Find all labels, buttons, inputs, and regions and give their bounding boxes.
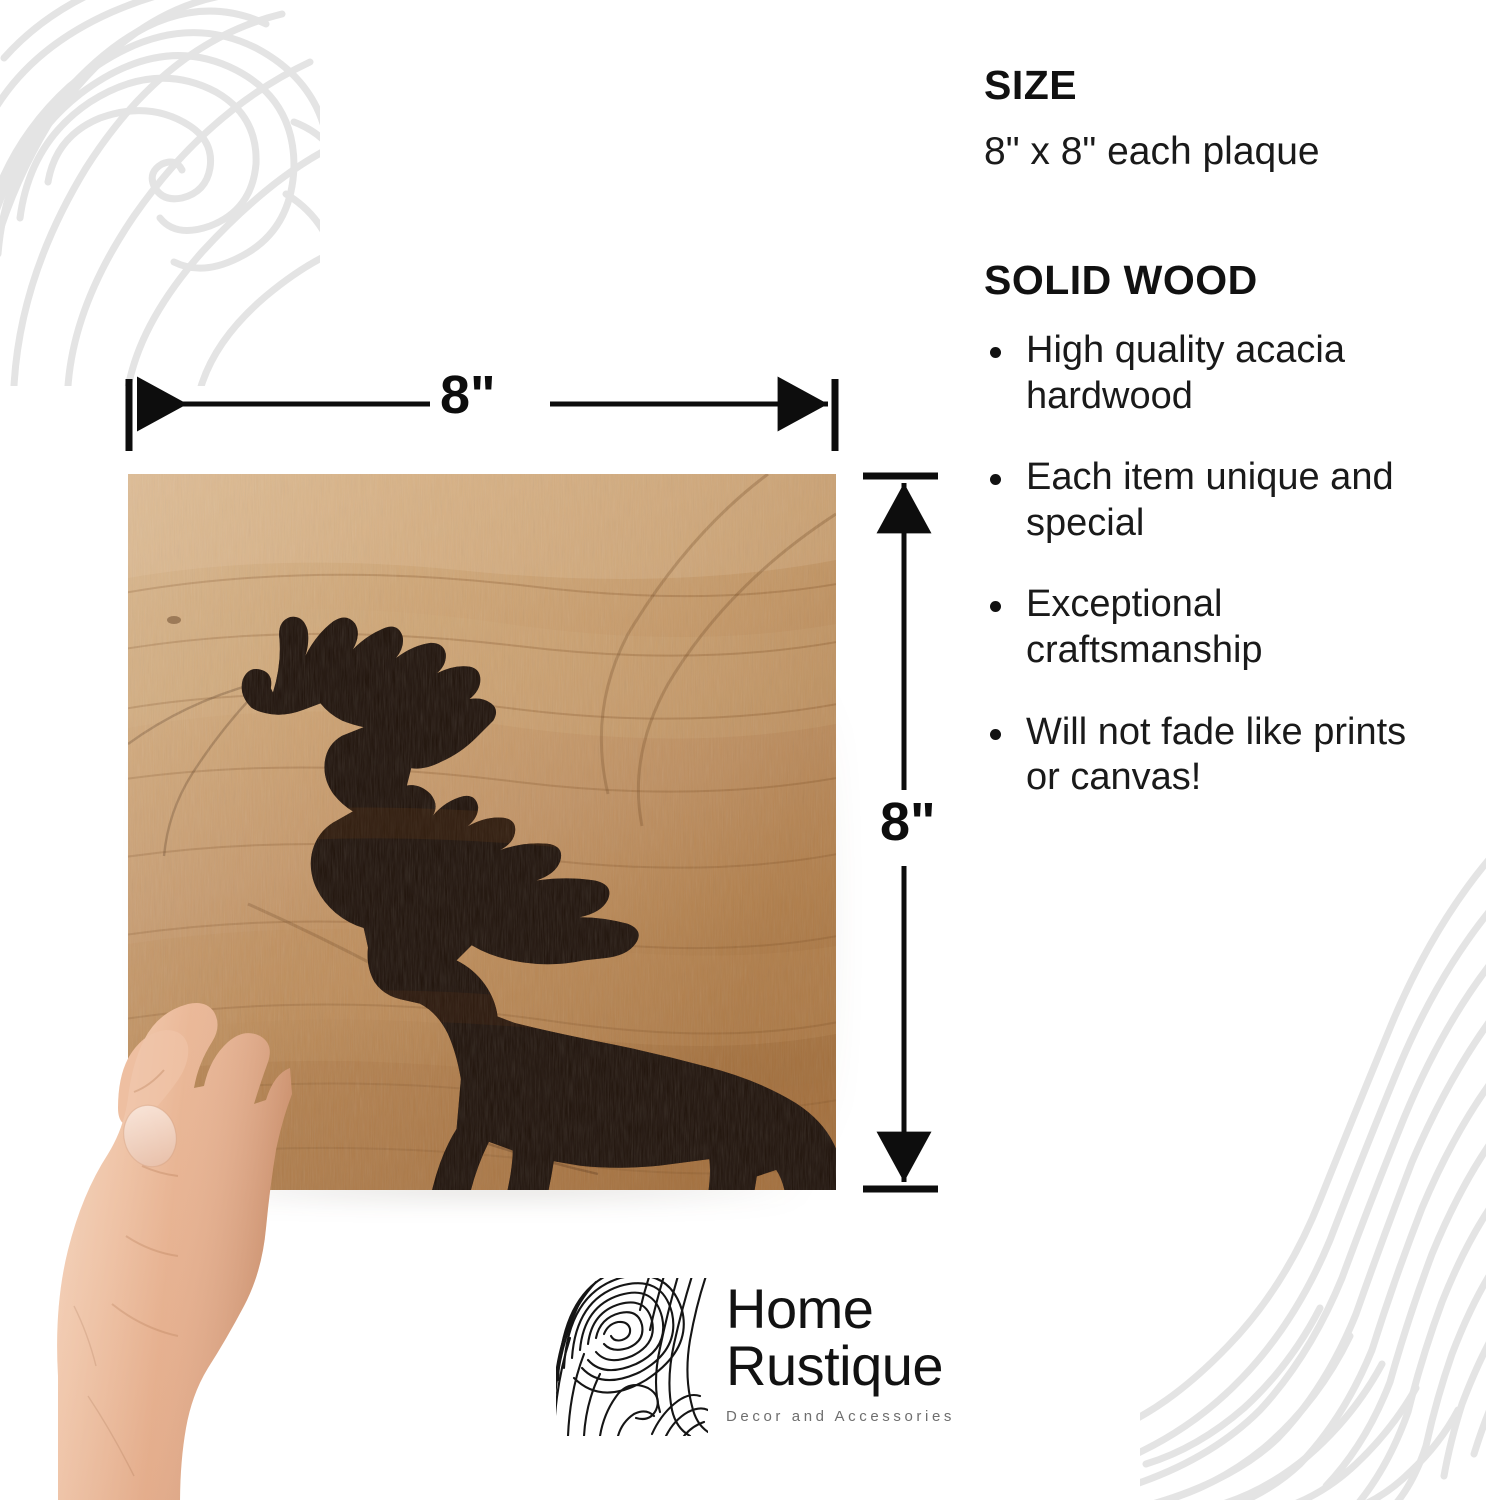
list-item: High quality acacia hardwood xyxy=(984,328,1444,419)
product-infographic: 8" 8" xyxy=(0,0,1486,1500)
list-item: Will not fade like prints or canvas! xyxy=(984,710,1444,801)
solid-wood-heading: SOLID WOOD xyxy=(984,259,1444,302)
wood-grain-decoration-top-left xyxy=(0,0,320,386)
wood-grain-logo-icon xyxy=(556,1278,708,1436)
feature-list: High quality acacia hardwood Each item u… xyxy=(984,328,1444,801)
hand-holding-plaque xyxy=(0,836,292,1500)
wood-grain-decoration-bottom-right xyxy=(1140,816,1486,1500)
size-value: 8" x 8" each plaque xyxy=(984,129,1444,175)
dimension-label-width: 8" xyxy=(440,368,496,422)
brand-name-line1: Home xyxy=(726,1280,955,1337)
list-item: Exceptional craftsmanship xyxy=(984,582,1444,673)
brand-logo: Home Rustique Decor and Accessories xyxy=(556,1278,956,1448)
list-item: Each item unique and special xyxy=(984,455,1444,546)
brand-wordmark: Home Rustique Decor and Accessories xyxy=(726,1278,955,1425)
brand-tagline: Decor and Accessories xyxy=(726,1408,955,1425)
brand-name-line2: Rustique xyxy=(726,1337,955,1394)
size-heading: SIZE xyxy=(984,64,1444,107)
product-info-column: SIZE 8" x 8" each plaque SOLID WOOD High… xyxy=(984,64,1444,801)
dimension-label-height: 8" xyxy=(880,795,936,849)
